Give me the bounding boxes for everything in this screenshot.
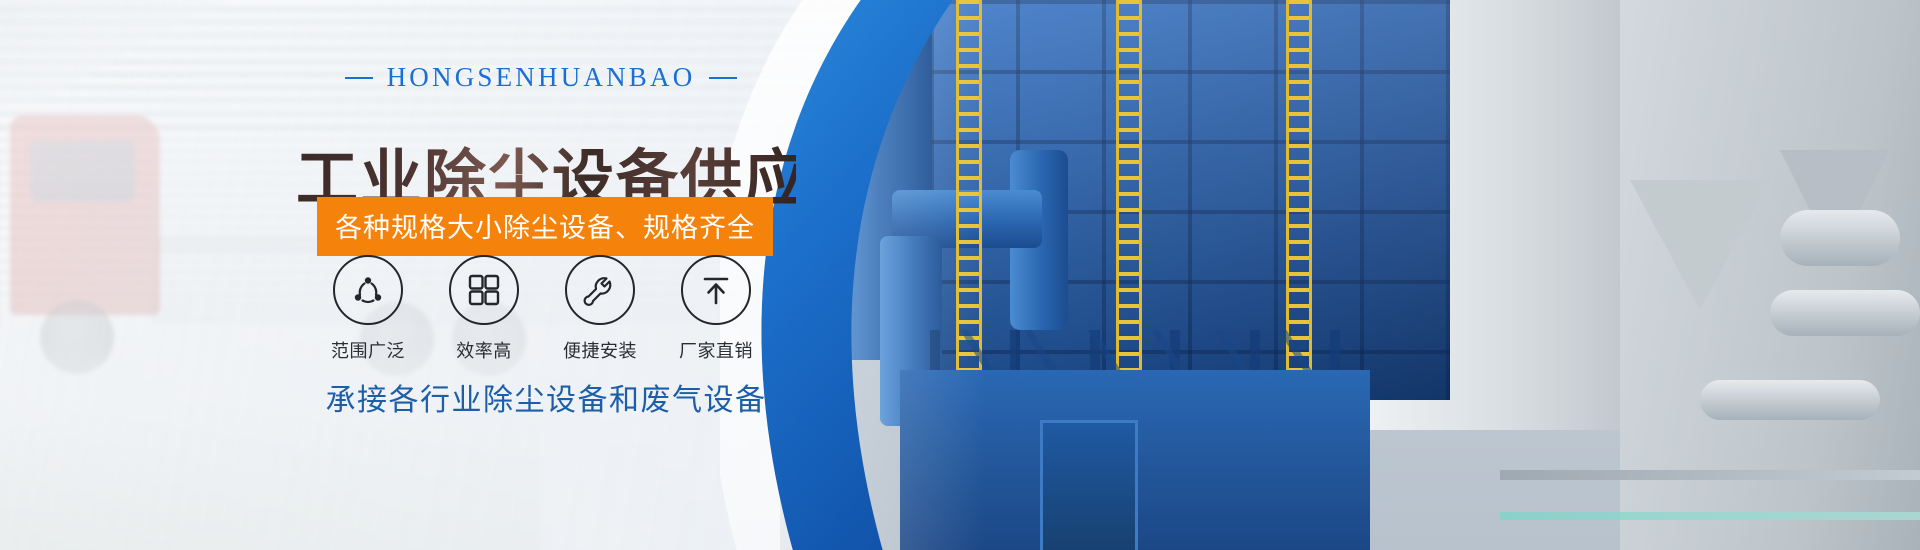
feature-label: 效率高	[432, 337, 536, 363]
english-brand-line: HONGSENHUANBAO	[316, 62, 766, 93]
feature-item-easy-install[interactable]: 便捷安装	[548, 255, 652, 363]
hero-banner: HONGSENHUANBAO 工业除尘设备供应商 各种规格大小除尘设备、规格齐全	[0, 0, 1920, 550]
arrow-up-to-bar-icon	[681, 255, 751, 325]
english-brand-text: HONGSENHUANBAO	[387, 62, 696, 93]
feature-label: 便捷安装	[548, 337, 652, 363]
feature-list: 范围广泛 效率高	[316, 255, 768, 363]
subtitle-badge: 各种规格大小除尘设备、规格齐全	[317, 197, 773, 256]
feature-item-factory-direct[interactable]: 厂家直销	[664, 255, 768, 363]
feature-item-wide-range[interactable]: 范围广泛	[316, 255, 420, 363]
share-network-icon	[333, 255, 403, 325]
dash-right-icon	[709, 77, 737, 79]
hero-content: HONGSENHUANBAO 工业除尘设备供应商 各种规格大小除尘设备、规格齐全	[0, 0, 1100, 550]
grid-four-squares-icon	[449, 255, 519, 325]
feature-label: 厂家直销	[664, 337, 768, 363]
tagline: 承接各行业除尘设备和废气设备	[296, 375, 796, 419]
wrench-icon	[565, 255, 635, 325]
feature-item-high-efficiency[interactable]: 效率高	[432, 255, 536, 363]
dash-left-icon	[345, 77, 373, 79]
feature-label: 范围广泛	[316, 337, 420, 363]
